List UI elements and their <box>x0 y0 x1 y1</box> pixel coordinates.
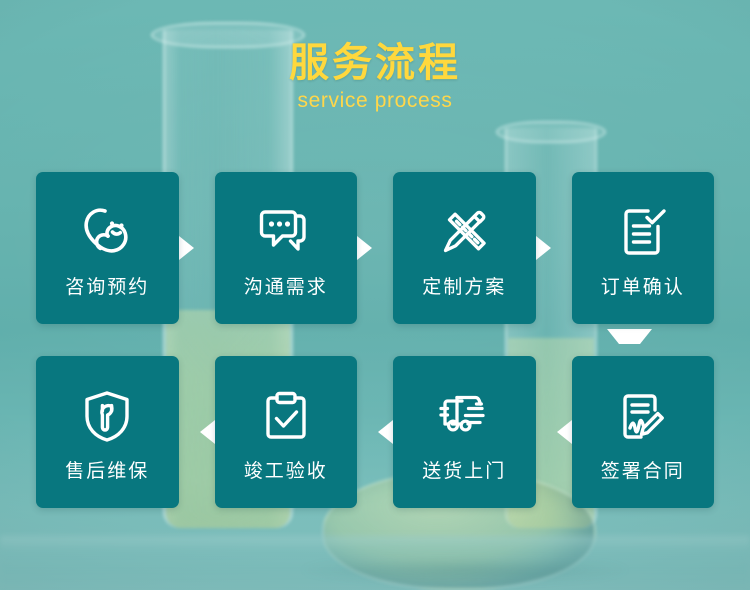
step-card-sign-contract[interactable]: 签署合同 <box>572 356 715 508</box>
process-row-bottom: 售后维保 竣工验收 <box>36 356 714 508</box>
arrow-left-icon <box>179 420 215 444</box>
shield-wrench-icon <box>75 384 139 448</box>
step-card-communication[interactable]: 沟通需求 <box>215 172 358 324</box>
process-row-top: 咨询预约 沟通需求 <box>36 172 714 324</box>
step-label: 售后维保 <box>65 462 149 481</box>
step-label: 订单确认 <box>601 278 685 297</box>
process-grid: 咨询预约 沟通需求 <box>36 172 714 508</box>
page-title-en: service process <box>0 89 750 112</box>
arrow-right-icon <box>536 236 572 260</box>
clipboard-check-icon <box>254 384 318 448</box>
phone-smile-icon <box>75 200 139 264</box>
step-card-custom-plan[interactable]: 定制方案 <box>393 172 536 324</box>
arrow-left-icon <box>357 420 393 444</box>
arrow-right-icon <box>357 236 393 260</box>
delivery-truck-icon <box>432 384 496 448</box>
step-label: 沟通需求 <box>244 278 328 297</box>
step-label: 咨询预约 <box>65 278 149 297</box>
step-card-delivery[interactable]: 送货上门 <box>393 356 536 508</box>
step-card-order-confirm[interactable]: 订单确认 <box>572 172 715 324</box>
page-heading: 服务流程 service process <box>0 42 750 112</box>
step-card-acceptance[interactable]: 竣工验收 <box>215 356 358 508</box>
service-process-poster: 服务流程 service process 咨询预约 <box>0 0 750 590</box>
step-label: 竣工验收 <box>244 462 328 481</box>
step-card-consultation[interactable]: 咨询预约 <box>36 172 179 324</box>
contract-sign-icon <box>611 384 675 448</box>
arrow-right-icon <box>179 236 215 260</box>
document-check-icon <box>611 200 675 264</box>
page-title-cn: 服务流程 <box>0 42 750 85</box>
chat-bubbles-icon <box>254 200 318 264</box>
step-card-after-sales[interactable]: 售后维保 <box>36 356 179 508</box>
pencil-ruler-icon <box>432 200 496 264</box>
step-label: 送货上门 <box>422 462 506 481</box>
arrow-left-icon <box>536 420 572 444</box>
step-label: 定制方案 <box>422 278 506 297</box>
step-label: 签署合同 <box>601 462 685 481</box>
